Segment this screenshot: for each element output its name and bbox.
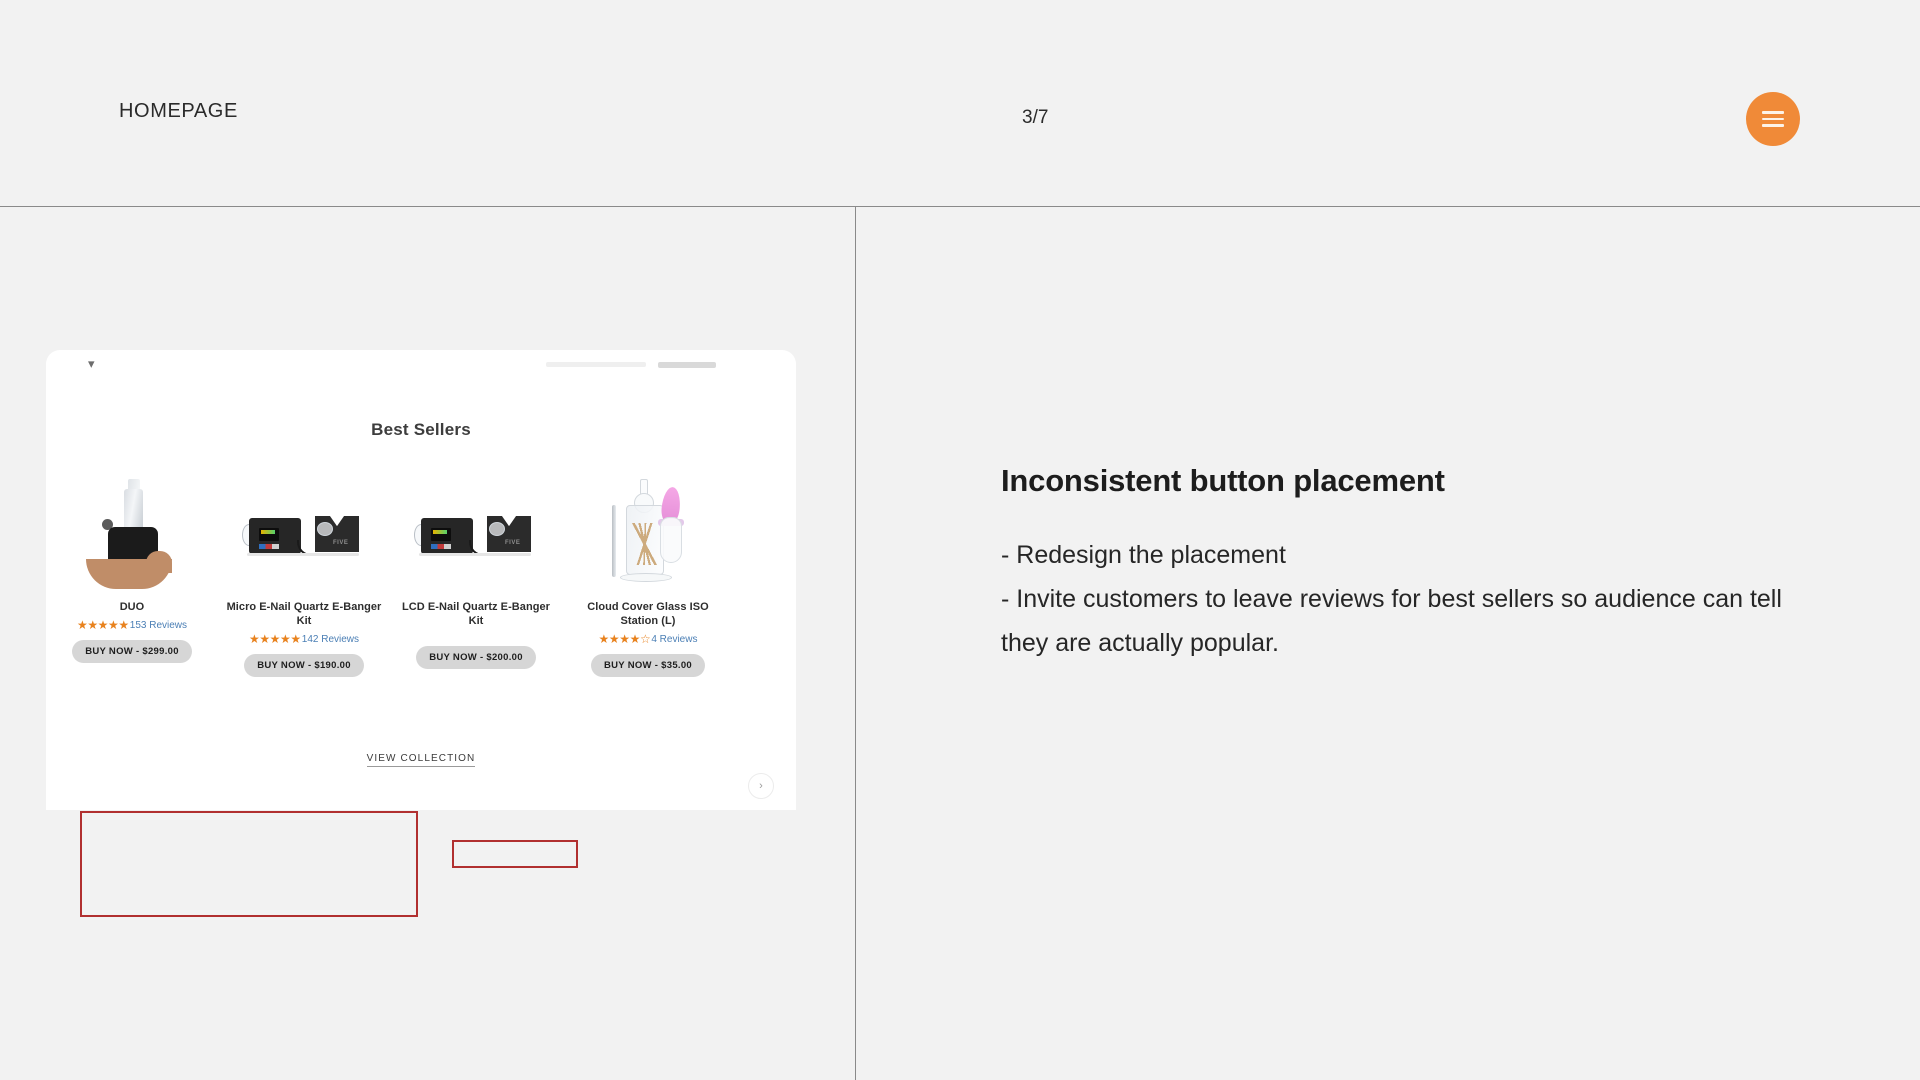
notes-pane: Inconsistent button placement - Redesign…: [856, 208, 1920, 1080]
menu-bar-3: [1762, 124, 1784, 127]
product-image-lcd-enail: FIVE: [390, 468, 562, 600]
product-image-micro-enail: FIVE: [218, 468, 390, 600]
top-bar: HOMEPAGE 3/7: [0, 0, 1920, 207]
best-sellers-heading: Best Sellers: [46, 420, 796, 440]
notes-block: Inconsistent button placement - Redesign…: [1001, 463, 1791, 665]
product-rating: ★★★★★ 142 Reviews: [218, 632, 390, 646]
star-rating-empty-icon: ☆: [640, 632, 650, 646]
product-image-iso-station: [562, 468, 734, 600]
site-logo-icon: ▾: [88, 359, 102, 369]
product-card[interactable]: DUO ★★★★★ 153 Reviews BUY NOW - $299.00: [46, 468, 218, 677]
product-rating: ★★★★☆ 4 Reviews: [562, 632, 734, 646]
product-name: Te: [734, 600, 796, 614]
buy-now-button[interactable]: BUY NOW - $200.00: [416, 646, 536, 669]
review-count[interactable]: 4 Reviews: [651, 634, 697, 645]
buy-now-button[interactable]: BUY NOW - $35.00: [591, 654, 705, 677]
review-count[interactable]: 153 Reviews: [130, 620, 187, 631]
product-image-duo: [46, 468, 218, 600]
star-rating-icon: ★★★★: [599, 632, 640, 646]
star-rating-icon: ★★★★★: [77, 618, 129, 632]
buy-now-button[interactable]: BUY NOW - $190.00: [244, 654, 364, 677]
product-name: DUO: [46, 600, 218, 614]
product-card[interactable]: FIVE Micro E-Nail Quartz E-Banger Kit ★★…: [218, 468, 390, 677]
page-title: HOMEPAGE: [119, 100, 238, 123]
peek-field-2: [658, 362, 716, 368]
notes-body: - Redesign the placement - Invite custom…: [1001, 533, 1791, 665]
view-collection-link[interactable]: VIEW COLLECTION: [46, 748, 796, 766]
chevron-right-icon[interactable]: ›: [748, 773, 774, 799]
website-screenshot: Best Sellers DUO ★★★★★: [46, 376, 796, 810]
product-image-partial: [734, 468, 796, 600]
notes-heading: Inconsistent button placement: [1001, 463, 1791, 499]
product-carousel: DUO ★★★★★ 153 Reviews BUY NOW - $299.00: [46, 468, 796, 677]
annotation-box-buttons: [80, 811, 418, 917]
menu-bar-1: [1762, 111, 1784, 114]
screenshot-pane: ▾ Best Sellers DUO: [0, 208, 855, 1080]
peek-field-1: [546, 362, 646, 367]
notes-line-1: - Redesign the placement: [1001, 533, 1791, 577]
notes-line-2: - Invite customers to leave reviews for …: [1001, 577, 1791, 665]
hamburger-menu-icon[interactable]: [1746, 92, 1800, 146]
view-collection-label[interactable]: VIEW COLLECTION: [367, 753, 476, 767]
annotation-box-title: [452, 840, 578, 868]
product-rating: ★★★★★ 153 Reviews: [46, 618, 218, 632]
review-count[interactable]: 142 Reviews: [302, 634, 359, 645]
product-name: LCD E-Nail Quartz E-Banger Kit: [390, 600, 562, 628]
product-name: Cloud Cover Glass ISO Station (L): [562, 600, 734, 628]
page-indicator: 3/7: [1022, 107, 1048, 129]
product-card[interactable]: Cloud Cover Glass ISO Station (L) ★★★★☆ …: [562, 468, 734, 677]
product-card[interactable]: Te: [734, 468, 796, 677]
menu-bar-2: [1762, 118, 1784, 121]
buy-now-button[interactable]: BUY NOW - $299.00: [72, 640, 192, 663]
product-card[interactable]: FIVE LCD E-Nail Quartz E-Banger Kit BUY …: [390, 468, 562, 677]
product-name: Micro E-Nail Quartz E-Banger Kit: [218, 600, 390, 628]
star-rating-icon: ★★★★★: [249, 632, 301, 646]
